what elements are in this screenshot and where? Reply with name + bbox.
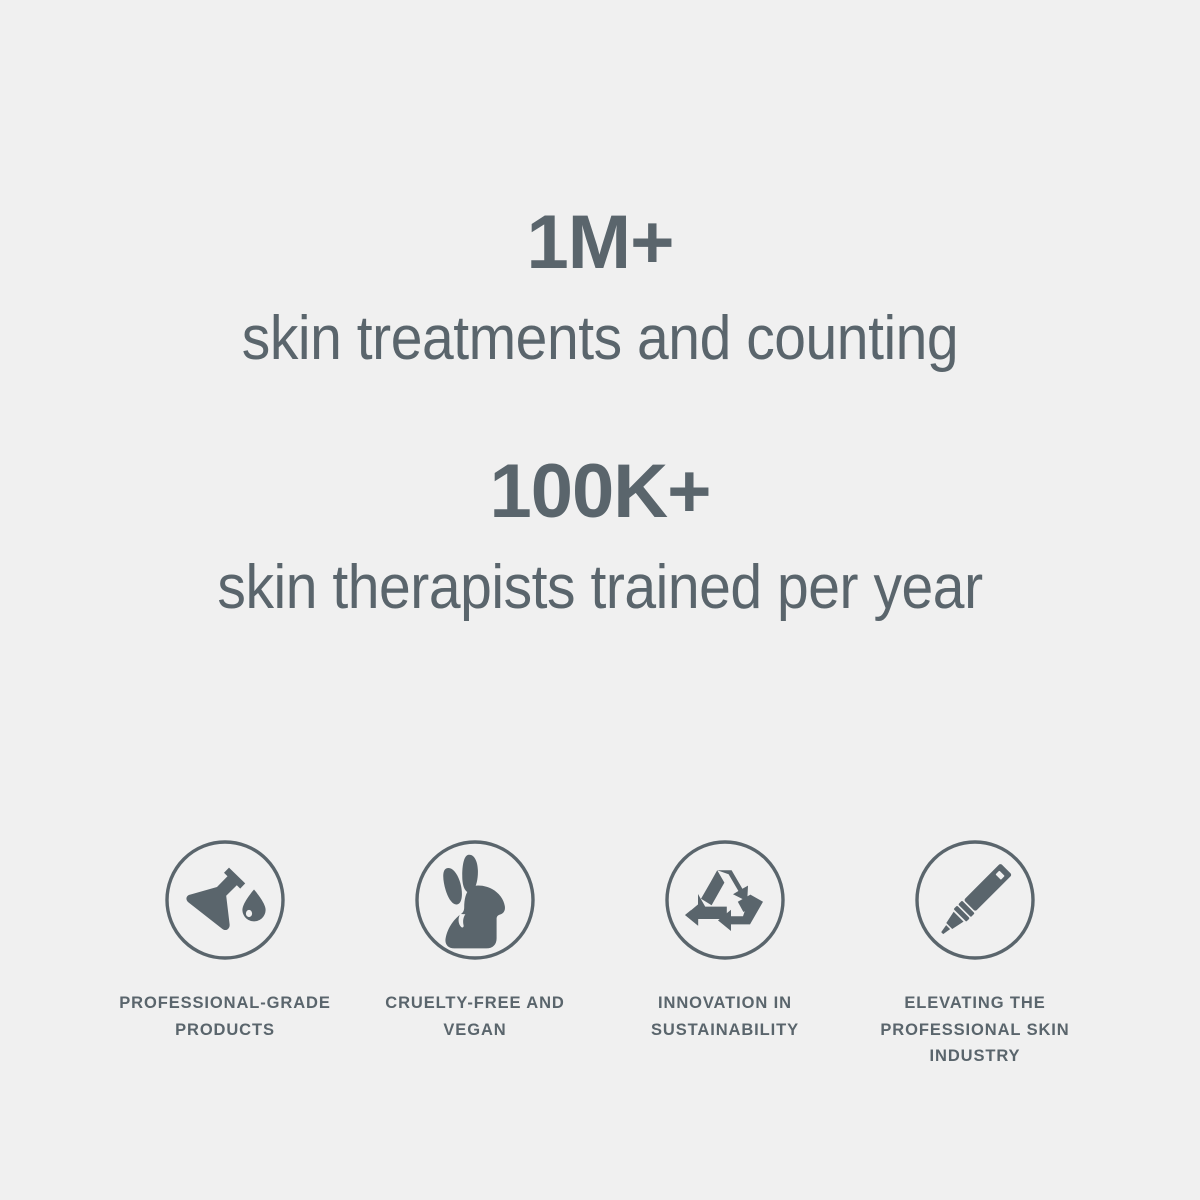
stat-block-therapists: 100K+ skin therapists trained per year [0, 454, 1200, 623]
stat-number-treatments: 1M+ [0, 205, 1200, 281]
feature-professional-grade-products: PROFESSIONAL-GRADE PRODUCTS [100, 832, 350, 1043]
stat-caption-therapists: skin therapists trained per year [48, 552, 1152, 623]
brand-stats-panel: 1M+ skin treatments and counting 100K+ s… [0, 0, 1200, 1200]
recycle-icon [657, 832, 793, 968]
feature-elevating-professional-skin-industry: ELEVATING THE PROFESSIONAL SKIN INDUSTRY [850, 832, 1100, 1070]
feature-label-cruelty-free-and-vegan: CRUELTY-FREE AND VEGAN [360, 990, 590, 1043]
feature-label-innovation-in-sustainability: INNOVATION IN SUSTAINABILITY [610, 990, 840, 1043]
pen-icon [907, 832, 1043, 968]
feature-badges-section: PROFESSIONAL-GRADE PRODUCTS CRUELTY-FREE… [0, 832, 1200, 1070]
rabbit-icon [407, 832, 543, 968]
feature-label-elevating-professional-skin-industry: ELEVATING THE PROFESSIONAL SKIN INDUSTRY [860, 990, 1090, 1070]
feature-label-professional-grade-products: PROFESSIONAL-GRADE PRODUCTS [110, 990, 340, 1043]
feature-innovation-in-sustainability: INNOVATION IN SUSTAINABILITY [600, 832, 850, 1043]
statistics-section: 1M+ skin treatments and counting 100K+ s… [0, 0, 1200, 624]
stat-number-therapists: 100K+ [0, 454, 1200, 530]
feature-cruelty-free-and-vegan: CRUELTY-FREE AND VEGAN [350, 832, 600, 1043]
stat-caption-treatments: skin treatments and counting [48, 303, 1152, 374]
stat-block-treatments: 1M+ skin treatments and counting [0, 205, 1200, 374]
flask-droplet-icon [157, 832, 293, 968]
